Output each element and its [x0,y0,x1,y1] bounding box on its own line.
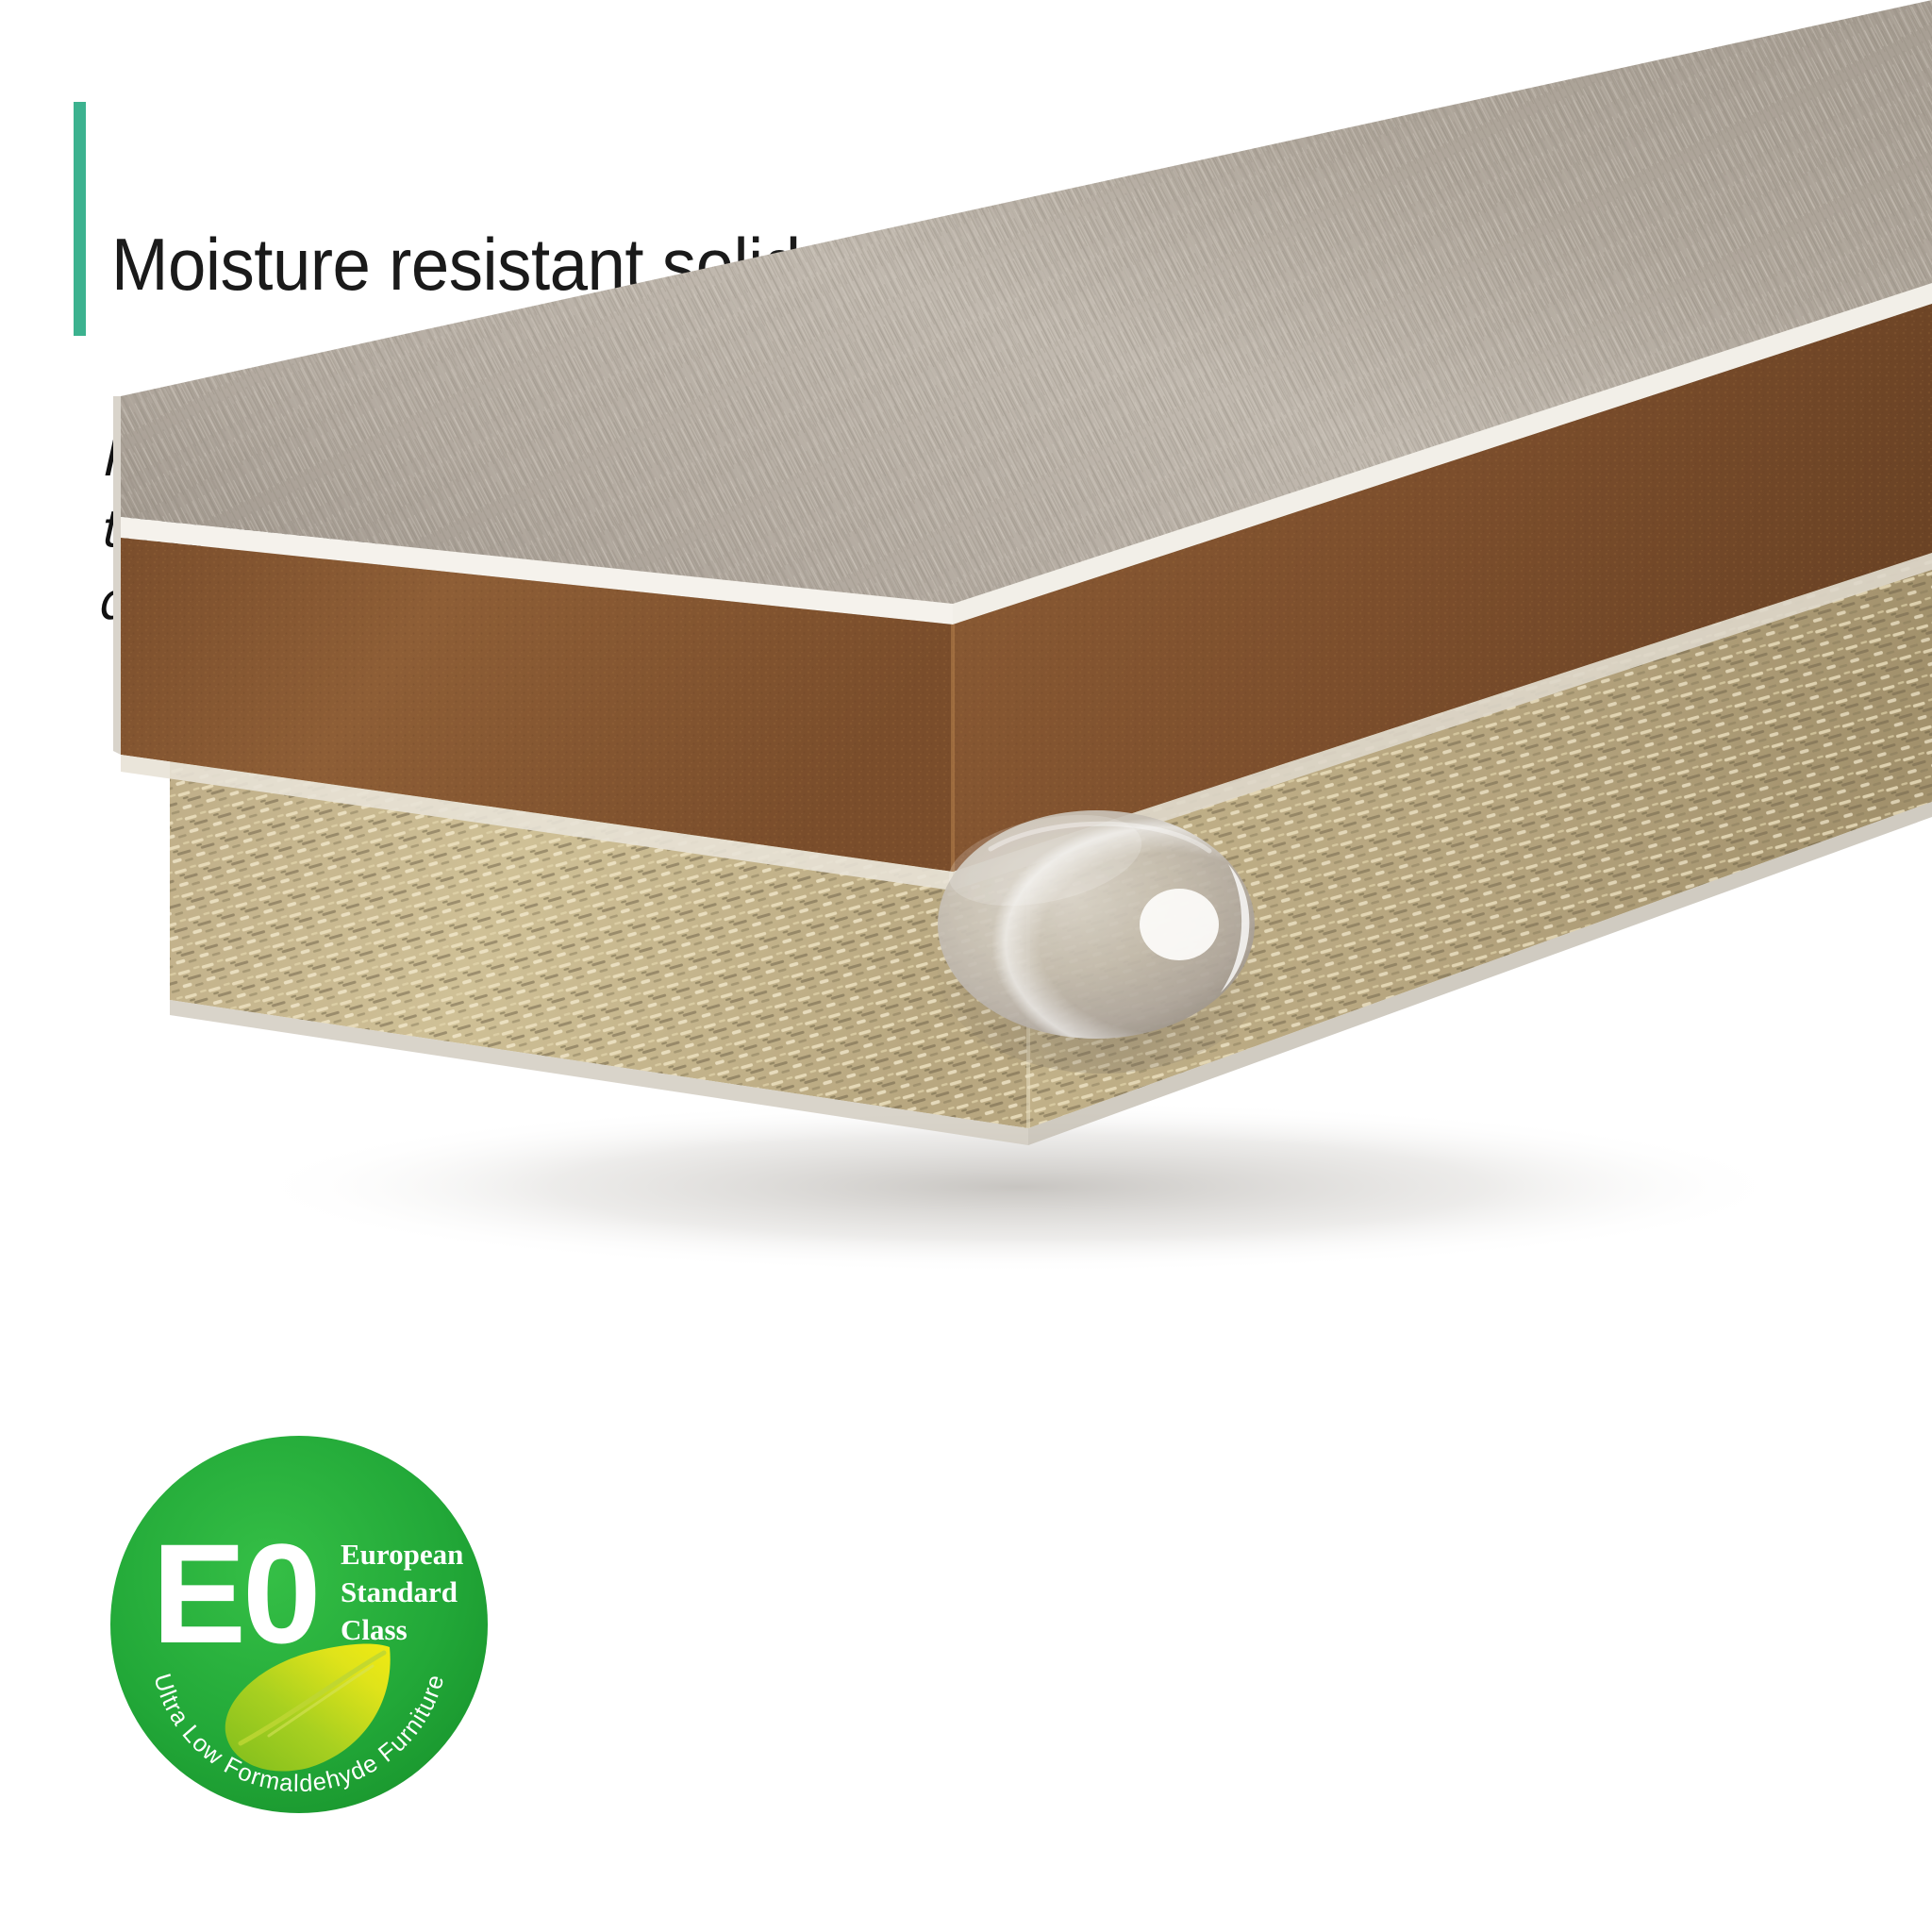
layered-board-illustration [0,0,1932,1321]
badge-title-line-2: Standard [341,1574,482,1611]
badge-title-line-3: Class [341,1611,482,1649]
badge-title-line-1: European [341,1536,482,1574]
badge-title-lines: European Standard Class [341,1536,482,1649]
infographic-canvas: Moisture resistant solid structure full … [0,0,1932,1932]
water-droplet [877,774,1321,1085]
badge-code: E0 [152,1523,317,1664]
e0-certification-badge[interactable]: Ultra Low Formaldehyde Furniture E0 Euro… [107,1432,491,1817]
